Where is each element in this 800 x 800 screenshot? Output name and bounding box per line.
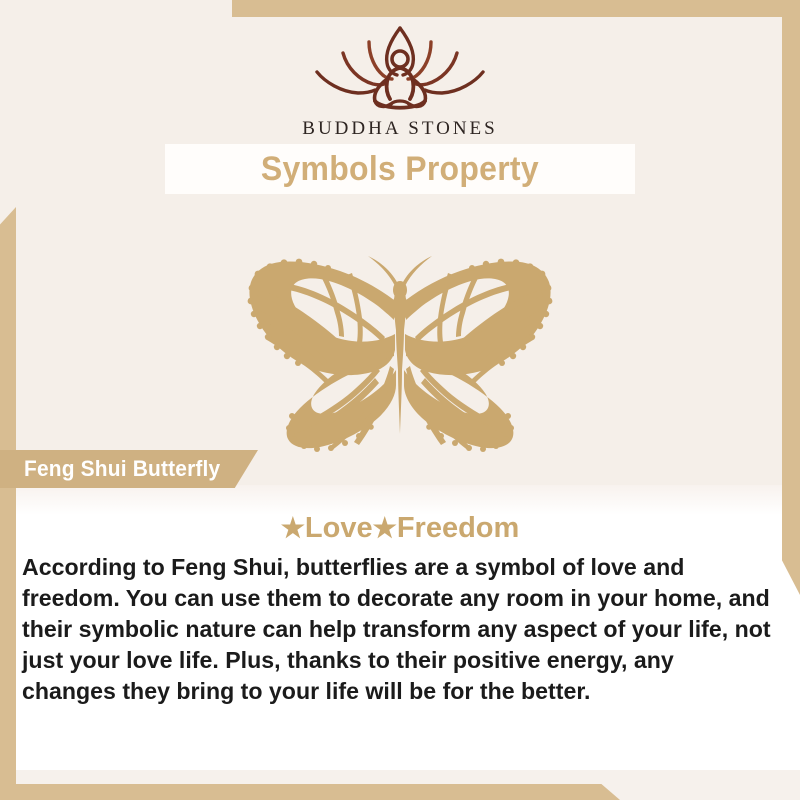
section-heading: ★Love★Freedom — [0, 512, 800, 545]
page-title: Symbols Property — [261, 150, 539, 189]
feng-shui-butterfly-ribbon: Feng Shui Butterfly — [0, 450, 258, 488]
background-gradient-divider — [0, 485, 800, 515]
butterfly-icon — [232, 238, 568, 454]
heading-word-freedom: Freedom — [397, 512, 519, 544]
brand-logo: BUDDHA STONES — [0, 22, 800, 140]
lotus-meditation-icon — [0, 22, 800, 114]
frame-band-top — [232, 0, 800, 17]
star-icon-mid: ★ — [373, 513, 397, 543]
poster-canvas: BUDDHA STONES Symbols Property — [0, 0, 800, 800]
frame-band-bottom — [0, 784, 620, 800]
heading-word-love: Love — [305, 512, 373, 544]
brand-name: BUDDHA STONES — [0, 118, 800, 140]
frame-band-left — [0, 207, 16, 792]
description-paragraph: According to Feng Shui, butterflies are … — [22, 552, 773, 707]
title-banner: Symbols Property — [165, 144, 635, 194]
star-icon-left: ★ — [281, 513, 305, 543]
ribbon-label: Feng Shui Butterfly — [24, 456, 220, 482]
